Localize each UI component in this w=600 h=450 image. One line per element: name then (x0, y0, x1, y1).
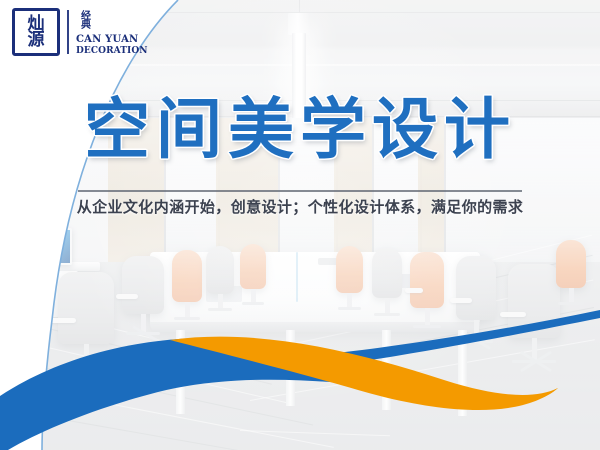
page-title: 空间美学设计 (0, 96, 600, 162)
logo-seal-icon: 灿 源 (12, 8, 60, 56)
logo-mark-icon: 经 典 (76, 8, 96, 34)
logo-seal-char-bottom: 源 (28, 32, 45, 48)
logo-mark-char-bottom: 典 (81, 21, 91, 30)
photo-vignette (0, 0, 600, 450)
promo-banner: 灿 源 经 典 CAN YUAN DECORATION 空间美学设计 从企业文化… (0, 0, 600, 450)
brand-logo[interactable]: 灿 源 经 典 CAN YUAN DECORATION (12, 8, 148, 56)
logo-english-line1: CAN YUAN (76, 35, 148, 45)
office-background-photo (0, 0, 600, 450)
logo-wordmark: 经 典 CAN YUAN DECORATION (76, 8, 148, 55)
logo-english-line2: DECORATION (76, 47, 148, 56)
page-subtitle: 从企业文化内涵开始，创意设计；个性化设计体系，满足你的需求 (0, 196, 600, 217)
logo-divider (67, 10, 69, 54)
title-divider (78, 190, 522, 192)
